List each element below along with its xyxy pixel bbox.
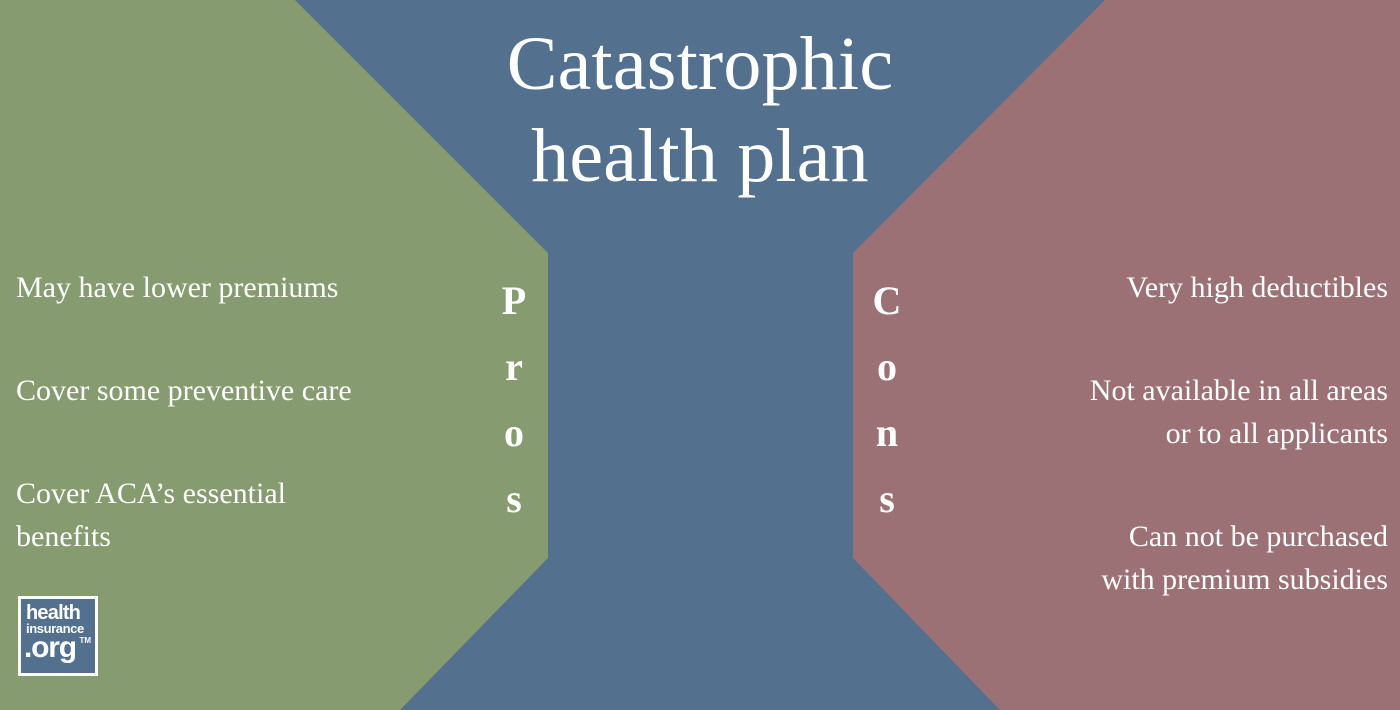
- pros-item: Cover some preventive care: [16, 369, 468, 412]
- cons-label-char-1: o: [857, 334, 917, 400]
- pros-label-char-3: s: [484, 466, 544, 532]
- healthinsurance-org-logo[interactable]: health insurance .org TM: [18, 596, 98, 676]
- cons-label-char-0: C: [857, 268, 917, 334]
- pros-label-char-2: o: [484, 400, 544, 466]
- cons-vertical-label: C o n s: [857, 268, 917, 532]
- pros-list: May have lower premiums Cover some preve…: [16, 266, 468, 558]
- pros-label-char-1: r: [484, 334, 544, 400]
- logo-inner-box: health insurance .org TM: [21, 599, 95, 673]
- cons-item-line: or to all applicants: [930, 412, 1388, 455]
- cons-item-line: Very high deductibles: [930, 266, 1388, 309]
- logo-text-health: health: [26, 603, 80, 623]
- logo-text-org: .org: [24, 633, 76, 663]
- pros-item-line: Cover some preventive care: [16, 369, 468, 412]
- pros-item: Cover ACA’s essential benefits: [16, 472, 468, 558]
- pros-item-line: Cover ACA’s essential: [16, 472, 468, 515]
- cons-label-char-3: s: [857, 466, 917, 532]
- pros-label-char-0: P: [484, 268, 544, 334]
- cons-list: Very high deductibles Not available in a…: [930, 266, 1388, 601]
- pros-item-line: benefits: [16, 515, 468, 558]
- cons-item-line: Can not be purchased: [930, 515, 1388, 558]
- infographic-canvas: Catastrophic health plan P r o s C o n s…: [0, 0, 1400, 710]
- cons-item: Can not be purchased with premium subsid…: [930, 515, 1388, 601]
- cons-label-char-2: n: [857, 400, 917, 466]
- pros-vertical-label: P r o s: [484, 268, 544, 532]
- cons-item-line: with premium subsidies: [930, 558, 1388, 601]
- pros-item-line: May have lower premiums: [16, 266, 468, 309]
- cons-item: Very high deductibles: [930, 266, 1388, 309]
- cons-item-line: Not available in all areas: [930, 369, 1388, 412]
- pros-item: May have lower premiums: [16, 266, 468, 309]
- logo-trademark-symbol: TM: [79, 637, 91, 645]
- cons-item: Not available in all areas or to all app…: [930, 369, 1388, 455]
